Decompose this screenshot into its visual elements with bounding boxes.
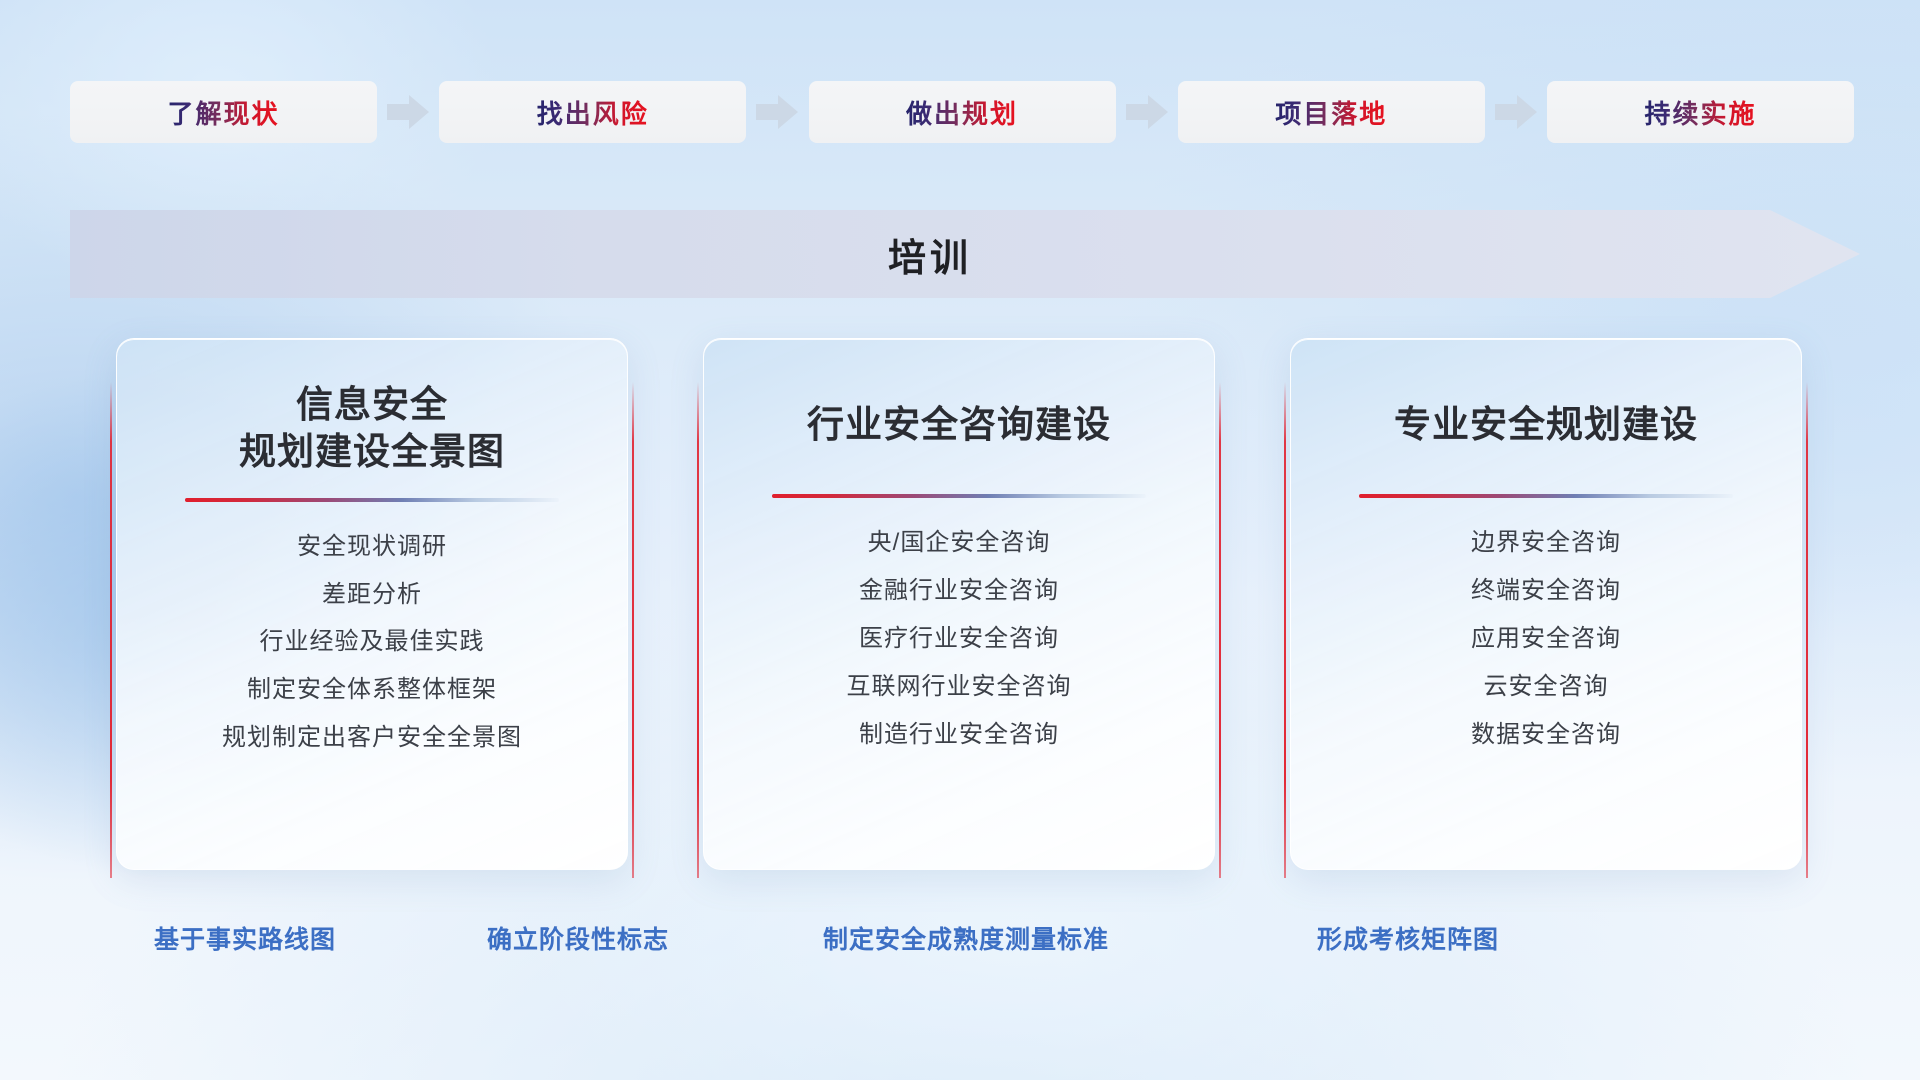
card-2[interactable]: 行业安全咨询建设 央/国企安全咨询 金融行业安全咨询 医疗行业安全咨询 互联网行… (697, 338, 1221, 878)
card-title-2: 行业安全咨询建设 (791, 401, 1127, 448)
card-divider-2 (772, 494, 1146, 498)
step-label-1: 了解现状 (167, 94, 279, 131)
footnote-4: 形成考核矩阵图 (1317, 920, 1499, 956)
step-box-4[interactable]: 项目落地 (1178, 81, 1485, 143)
step-box-1[interactable]: 了解现状 (70, 81, 377, 143)
chevron-right-arrow-icon (1495, 95, 1537, 129)
card-title-line: 信息安全 (239, 381, 505, 428)
card-accent-line-right (1219, 382, 1221, 878)
card-accent-line-left (697, 382, 699, 878)
card-title-1: 信息安全 规划建设全景图 (223, 381, 521, 476)
list-item: 安全现状调研 (297, 530, 447, 565)
card-row: 信息安全 规划建设全景图 安全现状调研 差距分析 行业经验及最佳实践 制定安全体… (110, 338, 1850, 878)
chevron-right-arrow-icon (1126, 95, 1168, 129)
footnote-3: 制定安全成熟度测量标准 (823, 920, 1109, 956)
list-item: 行业经验及最佳实践 (260, 625, 485, 660)
list-item: 云安全咨询 (1484, 670, 1609, 705)
step-box-5[interactable]: 持续实施 (1547, 81, 1854, 143)
card-accent-line-right (1806, 382, 1808, 878)
card-accent-line-left (110, 382, 112, 878)
list-item: 金融行业安全咨询 (859, 574, 1059, 609)
process-step-row: 了解现状 找出风险 做出规划 项目落地 (70, 79, 1854, 145)
card-list-1: 安全现状调研 差距分析 行业经验及最佳实践 制定安全体系整体框架 规划制定出客户… (117, 530, 627, 756)
slide-canvas: 了解现状 找出风险 做出规划 项目落地 (0, 0, 1920, 1080)
chevron-right-arrow-icon (756, 95, 798, 129)
card-list-2: 央/国企安全咨询 金融行业安全咨询 医疗行业安全咨询 互联网行业安全咨询 制造行… (704, 526, 1214, 752)
card-accent-line-right (632, 382, 634, 878)
list-item: 差距分析 (322, 578, 422, 613)
card-3[interactable]: 专业安全规划建设 边界安全咨询 终端安全咨询 应用安全咨询 云安全咨询 数据安全… (1284, 338, 1808, 878)
card-title-line: 规划建设全景图 (239, 428, 505, 475)
list-item: 央/国企安全咨询 (868, 526, 1051, 561)
card-list-3: 边界安全咨询 终端安全咨询 应用安全咨询 云安全咨询 数据安全咨询 (1291, 526, 1801, 752)
step-label-2: 找出风险 (537, 94, 649, 131)
card-title-3: 专业安全规划建设 (1378, 401, 1714, 448)
list-item: 终端安全咨询 (1471, 574, 1621, 609)
card-title-line: 行业安全咨询建设 (807, 401, 1111, 448)
card-divider-1 (185, 498, 559, 502)
list-item: 应用安全咨询 (1471, 622, 1621, 657)
step-label-4: 项目落地 (1275, 94, 1387, 131)
chevron-right-arrow-icon (387, 95, 429, 129)
card-title-line: 专业安全规划建设 (1394, 401, 1698, 448)
card-accent-line-left (1284, 382, 1286, 878)
card-divider-3 (1359, 494, 1733, 498)
list-item: 医疗行业安全咨询 (859, 622, 1059, 657)
list-item: 数据安全咨询 (1471, 718, 1621, 753)
footnote-row: 基于事实路线图 确立阶段性标志 制定安全成熟度测量标准 形成考核矩阵图 (0, 920, 1920, 960)
list-item: 规划制定出客户安全全景图 (222, 721, 522, 756)
banner-title: 培训 (70, 210, 1790, 298)
list-item: 制造行业安全咨询 (859, 718, 1059, 753)
card-1[interactable]: 信息安全 规划建设全景图 安全现状调研 差距分析 行业经验及最佳实践 制定安全体… (110, 338, 634, 878)
step-label-3: 做出规划 (906, 94, 1018, 131)
step-box-3[interactable]: 做出规划 (809, 81, 1116, 143)
footnote-1: 基于事实路线图 (154, 920, 336, 956)
list-item: 互联网行业安全咨询 (847, 670, 1072, 705)
footnote-2: 确立阶段性标志 (487, 920, 669, 956)
list-item: 边界安全咨询 (1471, 526, 1621, 561)
training-banner: 培训 (70, 210, 1860, 298)
list-item: 制定安全体系整体框架 (247, 673, 497, 708)
step-box-2[interactable]: 找出风险 (439, 81, 746, 143)
step-label-5: 持续实施 (1644, 94, 1756, 131)
